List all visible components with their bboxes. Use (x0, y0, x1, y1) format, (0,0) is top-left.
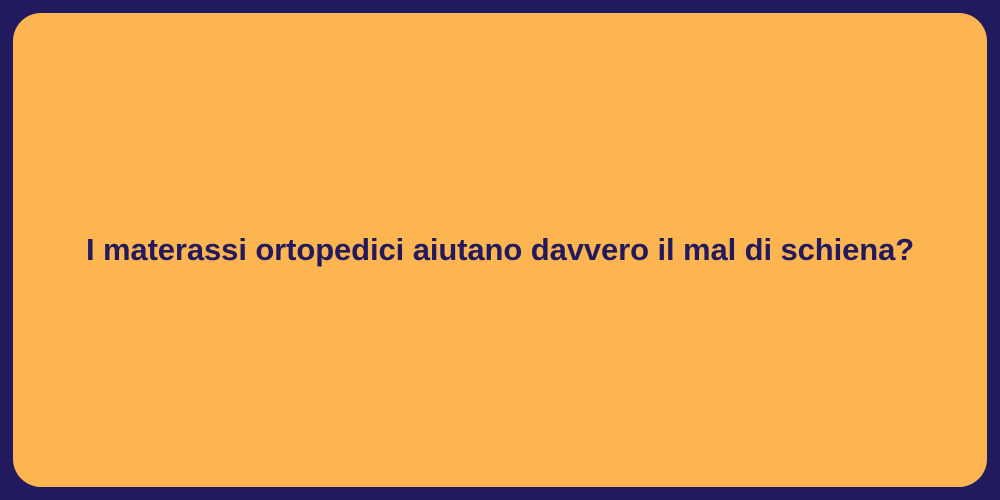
banner-frame: I materassi ortopedici aiutano davvero i… (0, 0, 1000, 500)
page-title: I materassi ortopedici aiutano davvero i… (86, 230, 914, 270)
banner-panel: I materassi ortopedici aiutano davvero i… (13, 13, 987, 487)
